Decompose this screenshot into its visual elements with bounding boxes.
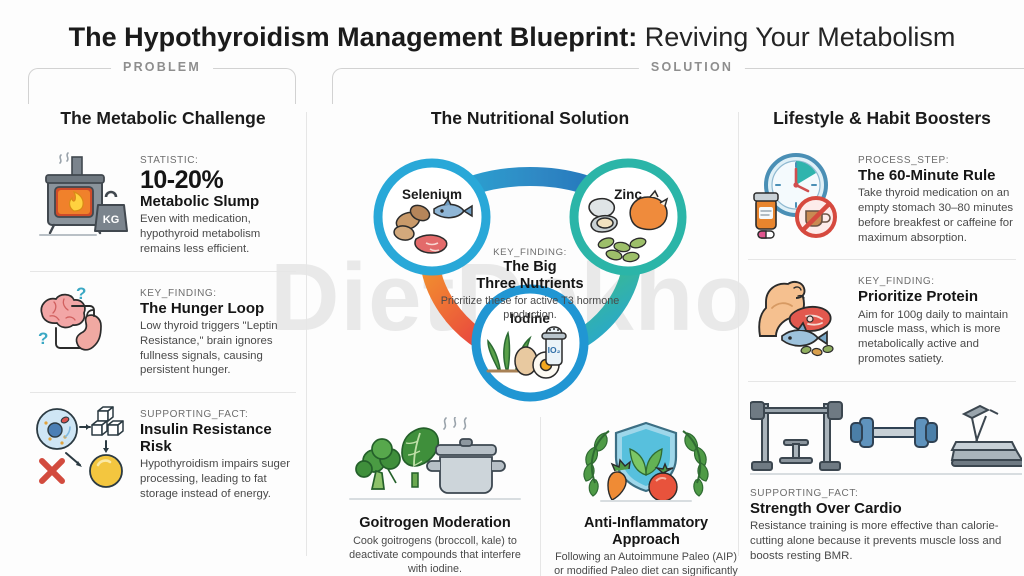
card-stat: 10-20% xyxy=(140,167,294,193)
column-problem: The Metabolic Challenge xyxy=(28,108,298,512)
page-title-bold: The Hypothyroidism Management Blueprint: xyxy=(69,22,638,52)
wood-stove-weight-icon: KG xyxy=(32,149,128,241)
three-nutrients-ring-diagram: IO₂ Selenium Zinc Iodine KEY_FINDING: Th… xyxy=(360,143,700,411)
card-description: Resistance training is more effective th… xyxy=(750,519,1014,563)
bicep-steak-fish-icon xyxy=(750,270,846,362)
squat-rack-dumbbell-treadmill-icon xyxy=(750,394,1014,482)
card-divider xyxy=(30,271,296,272)
center-headline: The Big Three Nutrients xyxy=(436,259,624,292)
node-label-selenium: Selenium xyxy=(378,187,486,202)
center-headline-line1: The Big xyxy=(503,259,556,275)
shield-leaf-laurel-icon xyxy=(551,417,741,509)
column-lifestyle: Lifestyle & Habit Boosters xyxy=(746,108,1018,563)
section-bracket-problem: PROBLEM xyxy=(28,68,296,104)
brain-stomach-icon: ? ? xyxy=(32,282,128,374)
ring-center-callout: KEY_FINDING: The Big Three Nutrients Pri… xyxy=(436,247,624,322)
center-kicker: KEY_FINDING: xyxy=(436,247,624,258)
card-kicker: PROCESS_STEP: xyxy=(858,155,1014,166)
card-insulin-resistance: SUPPORTING_FACT: Insulin Resistance Risk… xyxy=(28,397,298,512)
column-heading-lifestyle: Lifestyle & Habit Boosters xyxy=(746,108,1018,129)
card-prioritize-protein: KEY_FINDING: Prioritize Protein Aim for … xyxy=(746,264,1018,376)
page-title-light: Reviving Your Metabolism xyxy=(637,22,955,52)
card-headline: The 60-Minute Rule xyxy=(858,167,1014,184)
svg-text:?: ? xyxy=(76,284,86,303)
card-goitrogen-moderation: Goitrogen Moderation Cook goitrogens (br… xyxy=(330,417,540,576)
card-description: Following an Autoimmune Paleo (AIP) or m… xyxy=(551,550,741,576)
card-kicker: SUPPORTING_FACT: xyxy=(750,488,1014,499)
card-divider xyxy=(748,259,1016,260)
card-description: Hypothyroidism impairs suger processing,… xyxy=(140,457,294,501)
cell-sugar-fat-icon xyxy=(32,403,128,495)
card-kicker: KEY_FINDING: xyxy=(858,276,1014,287)
card-headline: Prioritize Protein xyxy=(858,288,1014,305)
card-kicker: STATISTIC: xyxy=(140,155,294,166)
card-description: Take thyroid medication on an empty stom… xyxy=(858,186,1014,245)
section-bracket-solution: SOLUTION xyxy=(332,68,1024,104)
card-metabolic-slump: KG STATISTIC: 10-20% Metabolic Slump Eve… xyxy=(28,143,298,267)
card-headline: Metabolic Slump xyxy=(140,193,294,210)
card-description: Even with medication, hypothyroid metabo… xyxy=(140,212,294,256)
section-label-problem: PROBLEM xyxy=(111,60,213,74)
nutrition-bottom-items: Goitrogen Moderation Cook goitrogens (br… xyxy=(330,417,730,576)
card-description: Cook goitrogens (broccoll, kale) to deac… xyxy=(340,534,530,576)
broccoli-kale-pot-icon xyxy=(340,417,530,509)
card-headline: Insulin Resistance Risk xyxy=(140,421,294,455)
card-60-minute-rule: PROCESS_STEP: The 60-Minute Rule Take th… xyxy=(746,143,1018,255)
card-kicker: SUPPORTING_FACT: xyxy=(140,409,294,420)
section-label-solution: SOLUTION xyxy=(639,60,745,74)
card-kicker: KEY_FINDING: xyxy=(140,288,294,299)
infographic-canvas: DietDekho The Hypothyroidism Management … xyxy=(0,0,1024,576)
column-heading-problem: The Metabolic Challenge xyxy=(28,108,298,129)
clock-pills-no-coffee-icon xyxy=(750,149,846,241)
column-nutrition: The Nutritional Solution xyxy=(330,108,730,576)
card-hunger-loop: ? ? KEY_FINDING: The Hunger Loop Low thy… xyxy=(28,276,298,388)
card-headline: Goitrogen Moderation xyxy=(340,515,530,532)
card-headline: Anti-Inflammatory Approach xyxy=(551,515,741,548)
node-label-zinc: Zinc xyxy=(574,187,682,202)
card-divider xyxy=(748,381,1016,382)
card-description: Low thyroid triggers "Leptin Resistance,… xyxy=(140,319,294,378)
card-strength-over-cardio: SUPPORTING_FACT: Strength Over Cardio Re… xyxy=(746,386,1018,564)
center-headline-line2: Three Nutrients xyxy=(476,276,583,292)
card-headline: Strength Over Cardio xyxy=(750,500,1014,517)
column-divider-left xyxy=(306,112,307,556)
svg-text:?: ? xyxy=(38,329,48,348)
svg-text:IO₂: IO₂ xyxy=(548,345,561,355)
center-description: Pricritize these for active T3 hormone p… xyxy=(436,294,624,322)
card-description: Aim for 100g daily to maintain muscle ma… xyxy=(858,308,1014,367)
card-divider xyxy=(30,392,296,393)
page-title: The Hypothyroidism Management Blueprint:… xyxy=(0,22,1024,53)
card-headline: The Hunger Loop xyxy=(140,300,294,317)
card-anti-inflammatory: Anti-Inflammatory Approach Following an … xyxy=(540,417,751,576)
svg-text:KG: KG xyxy=(103,214,120,226)
column-heading-nutrition: The Nutritional Solution xyxy=(330,108,730,129)
